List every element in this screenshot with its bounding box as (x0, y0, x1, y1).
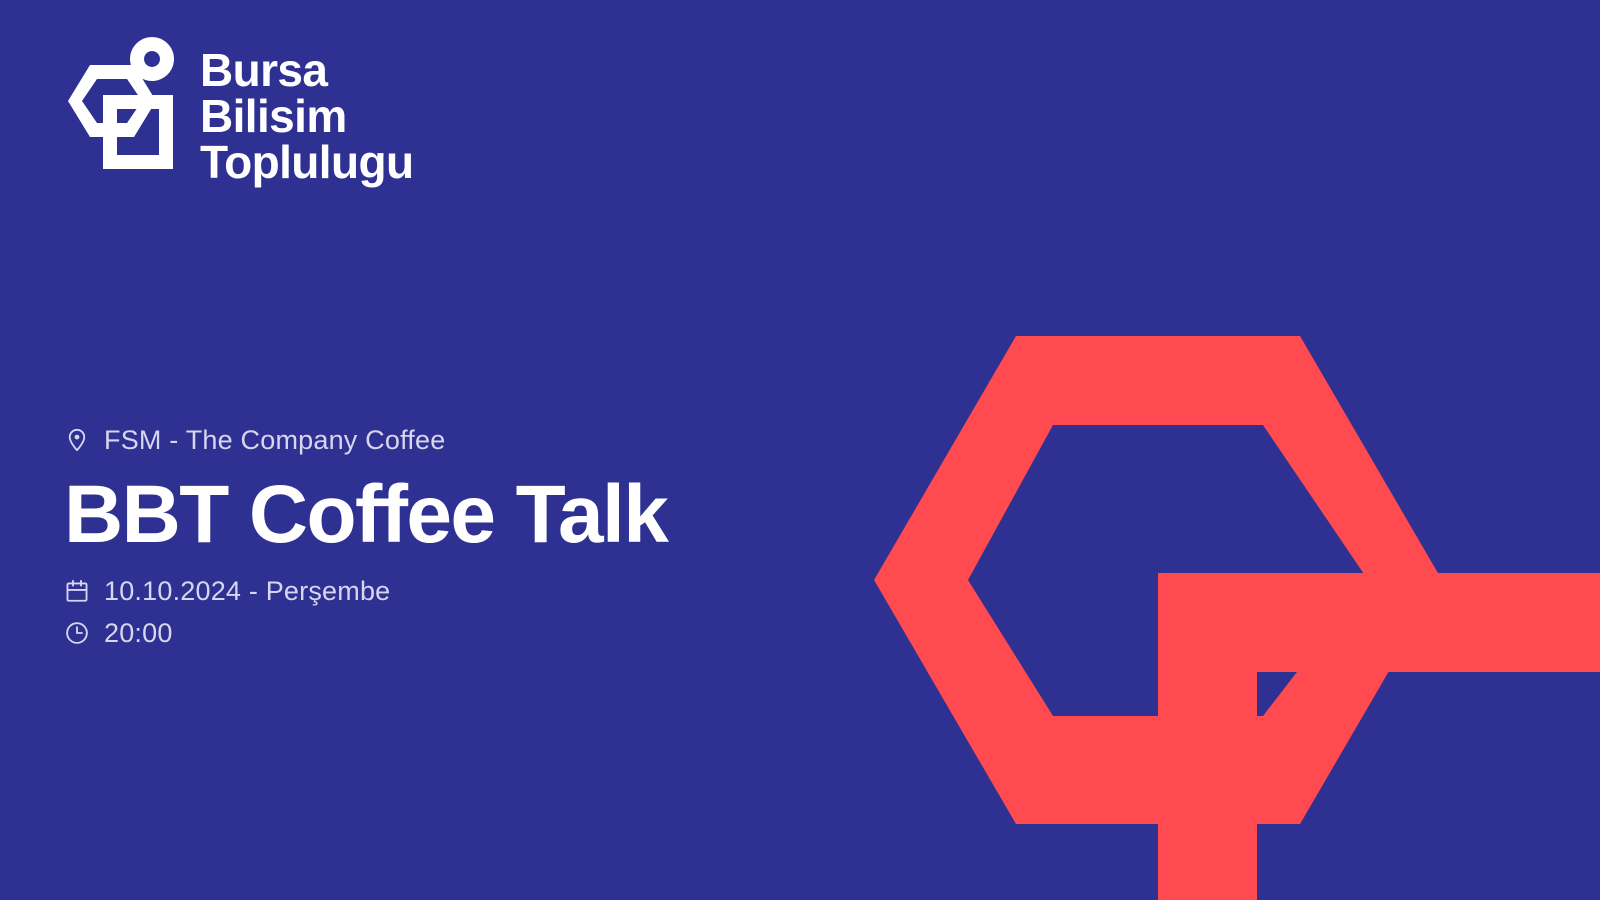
hexagon-circle-square-logo-icon (62, 33, 180, 173)
location-pin-icon (64, 427, 90, 453)
brand-wordmark: Bursa Bilisim Toplulugu (200, 47, 413, 185)
brand-logo: Bursa Bilisim Toplulugu (62, 33, 413, 185)
clock-icon (64, 620, 90, 646)
event-poster: Bursa Bilisim Toplulugu FSM - The Compan… (0, 0, 1600, 900)
date-label: 10.10.2024 - Perşembe (104, 574, 390, 608)
venue-label: FSM - The Company Coffee (104, 424, 445, 456)
time-label: 20:00 (104, 616, 173, 650)
time-row: 20:00 (64, 616, 667, 650)
event-title: BBT Coffee Talk (64, 470, 667, 560)
event-details: FSM - The Company Coffee BBT Coffee Talk… (64, 424, 667, 658)
date-row: 10.10.2024 - Perşembe (64, 574, 667, 608)
calendar-icon (64, 578, 90, 604)
venue-row: FSM - The Company Coffee (64, 424, 667, 456)
brand-wordmark-line-2: Bilisim (200, 93, 413, 139)
brand-wordmark-line-3: Toplulugu (200, 139, 413, 185)
brand-wordmark-line-1: Bursa (200, 47, 413, 93)
